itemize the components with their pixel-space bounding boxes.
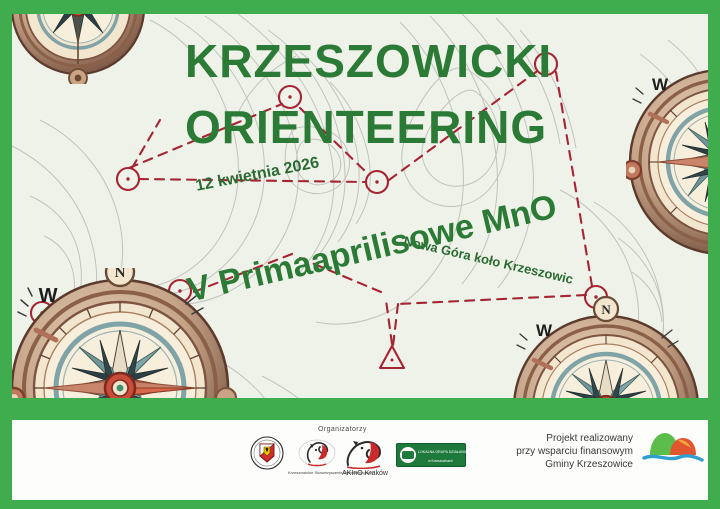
akino-krakow-logo — [342, 437, 386, 469]
start-triangle — [380, 346, 404, 368]
poster-title-line-2: ORIENTEERING — [185, 104, 547, 150]
frame-bar-left — [0, 0, 12, 509]
compass-letter-n: N — [601, 302, 611, 317]
frame-bar-bottom — [0, 500, 720, 509]
lgd-badge-subcaption: w Krzeszowicach — [418, 459, 463, 463]
compass-rose-top-right: N W — [626, 62, 720, 272]
lgd-badge-caption: LOKALNA GRUPA DZIAŁANIA — [418, 450, 463, 455]
compass-letter-w: W — [652, 75, 669, 94]
event-poster: N S W — [0, 0, 720, 509]
compass-letter-w: W — [536, 321, 553, 340]
map-background: N S W — [0, 0, 720, 420]
compass-letter-w: W — [39, 285, 58, 307]
compass-letter-n: N — [115, 268, 126, 281]
horse-club-logo — [298, 438, 336, 468]
support-text: Projekt realizowany przy wsparciu finans… — [498, 432, 633, 471]
organizers-label: Organizatorzy — [318, 426, 367, 433]
frame-bar-top — [0, 0, 720, 14]
frame-bar-right — [708, 0, 720, 509]
support-line-3: Gminy Krzeszowice — [498, 458, 633, 471]
coat-of-arms-logo — [250, 436, 284, 470]
krzeszowice-municipality-logo — [634, 428, 710, 466]
footer-band: Organizatorzy Krzeszowickie Stowarzyszen… — [0, 420, 720, 509]
support-line-2: przy wsparciu finansowym — [498, 445, 633, 458]
support-line-1: Projekt realizowany — [498, 432, 633, 445]
lgd-badge-logo: LOKALNA GRUPA DZIAŁANIA w Krzeszowicach — [396, 443, 466, 467]
poster-title-line-1: KRZESZOWICKI — [185, 38, 552, 84]
akino-krakow-caption: AKInO Kraków — [336, 471, 394, 477]
frame-bar-middle — [0, 398, 720, 420]
